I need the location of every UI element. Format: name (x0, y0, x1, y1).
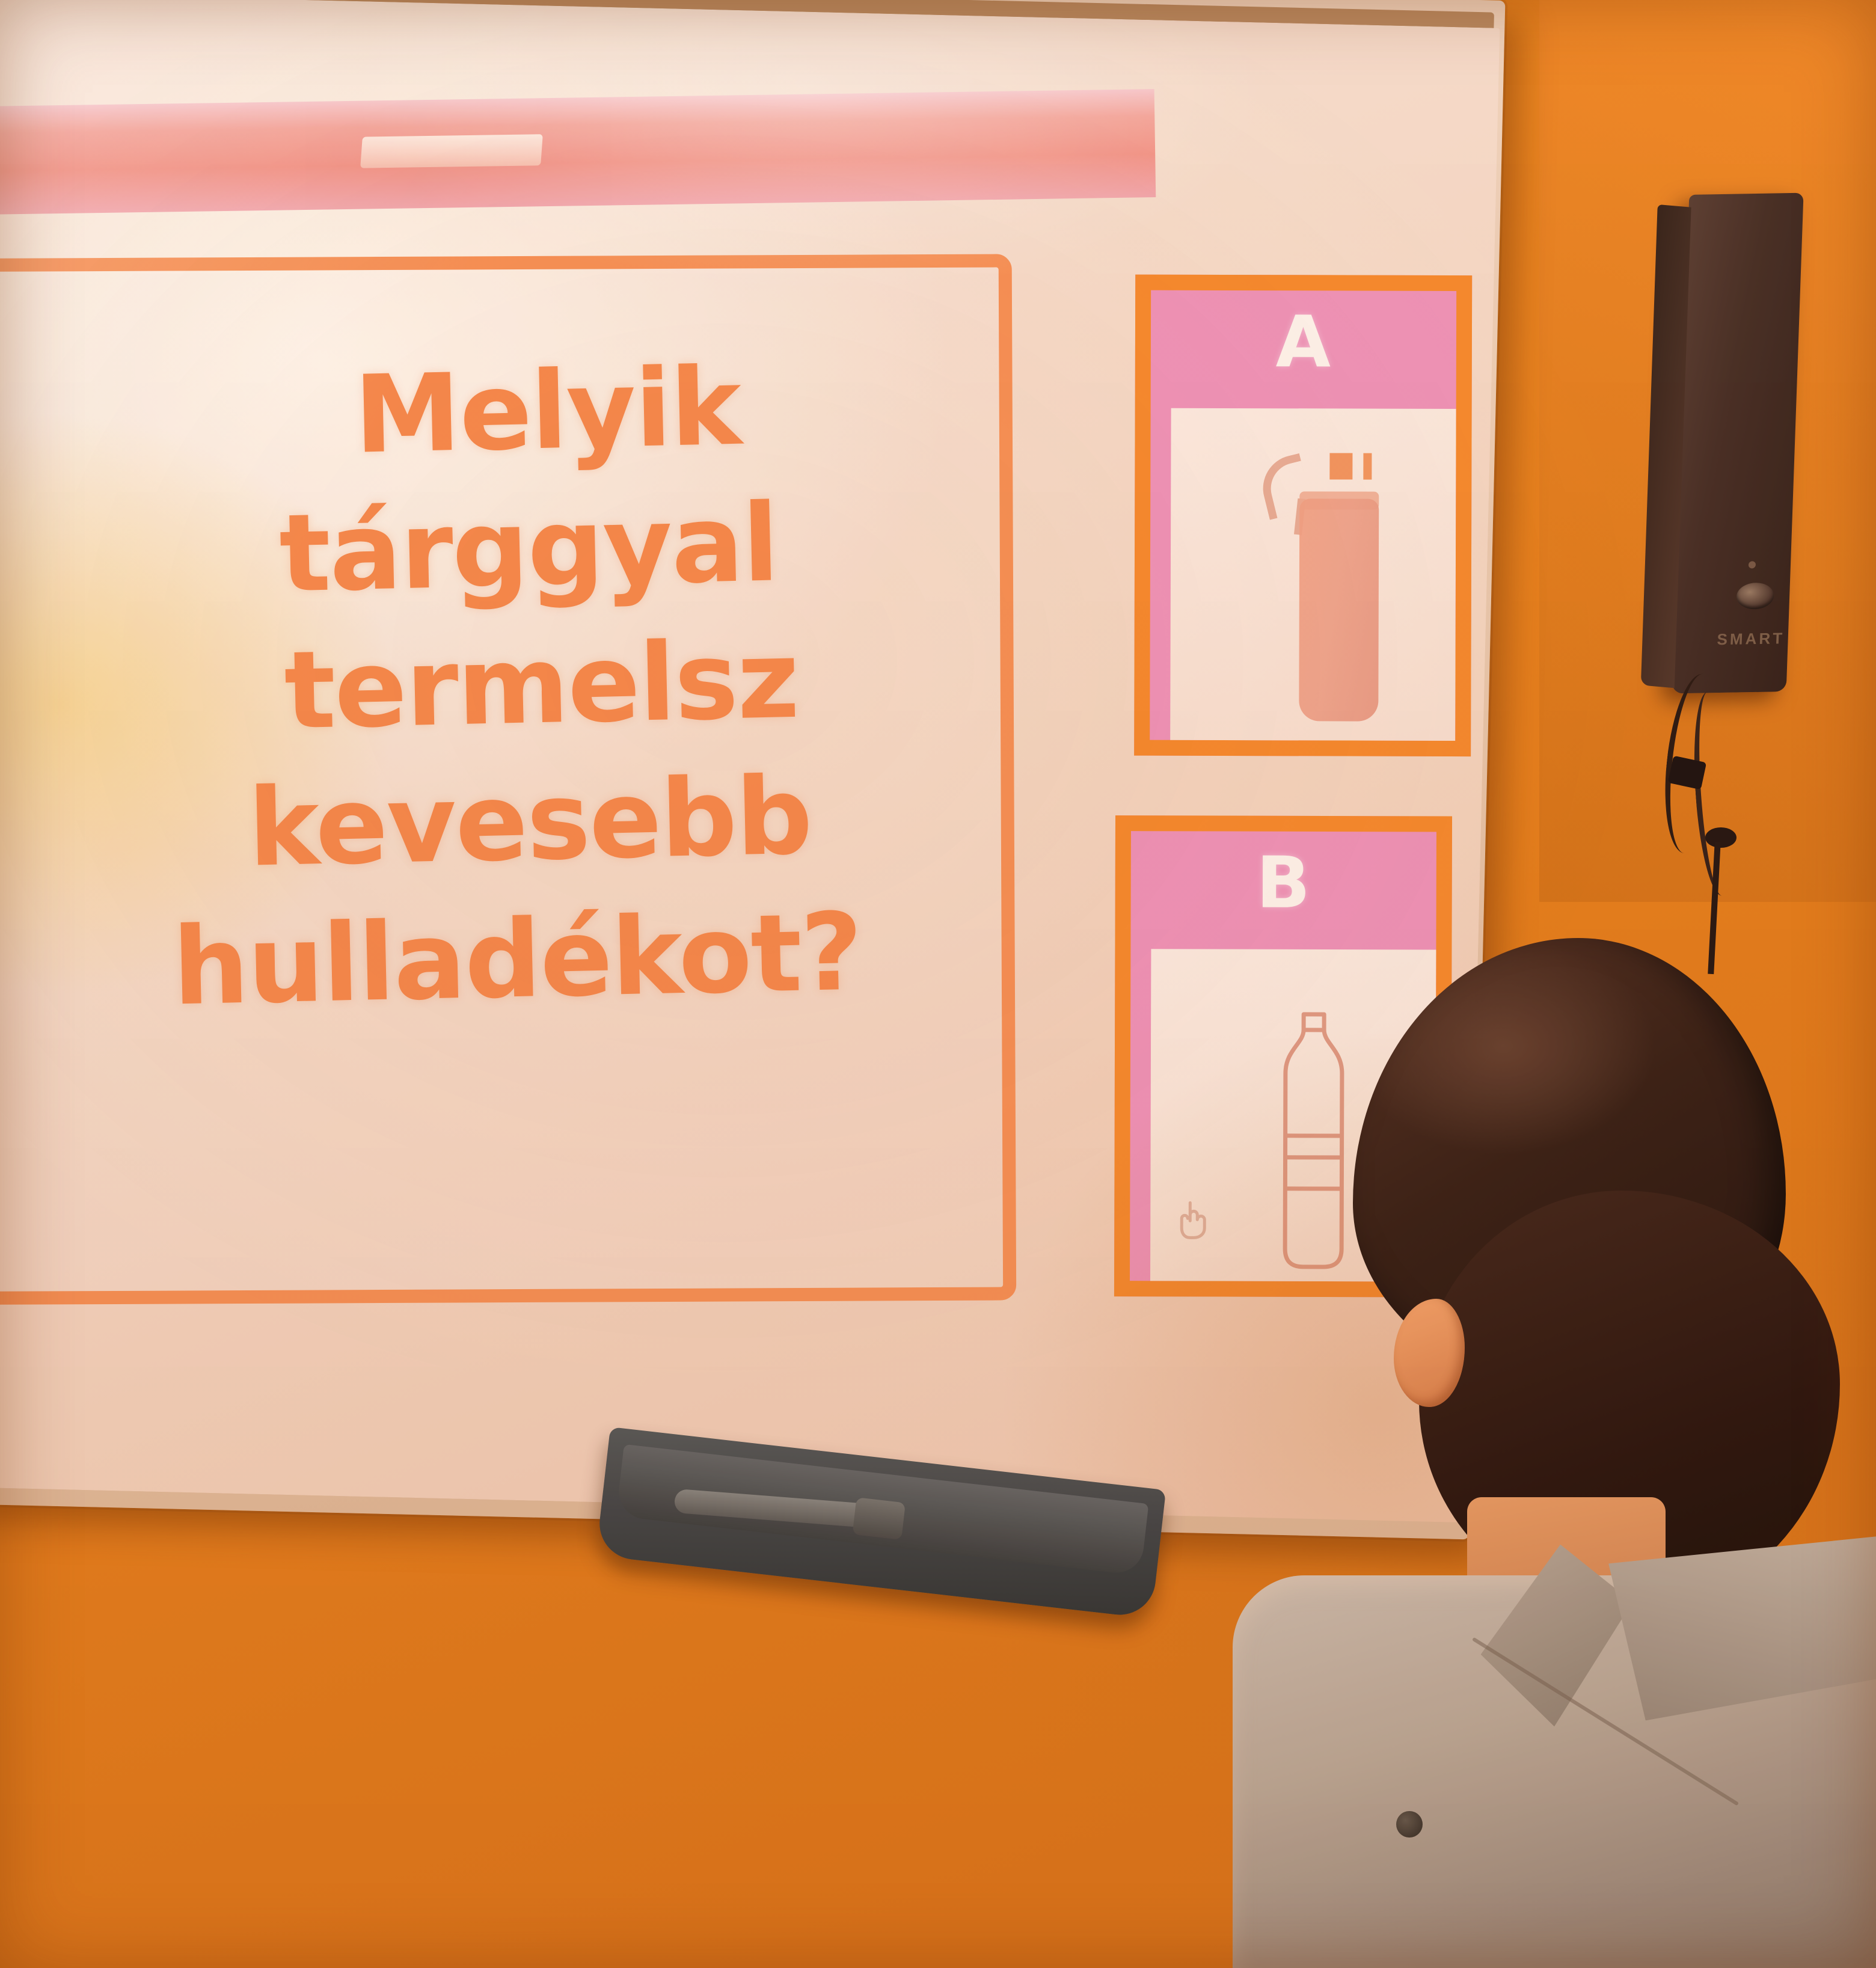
cable-bead (1705, 827, 1737, 848)
answer-letter-a: A (1151, 306, 1456, 378)
stylus-pen-holder (853, 1497, 906, 1540)
label-mark-icon (1363, 453, 1372, 480)
label-mark-icon (1329, 453, 1352, 479)
slide-header-notch (360, 134, 543, 168)
child-viewing-board (1269, 938, 1876, 1968)
volume-knob[interactable] (1736, 583, 1774, 610)
question-line-3: termelsz (143, 608, 940, 762)
question-line-4: kevesebb (132, 746, 928, 900)
answer-letter-b: B (1131, 847, 1436, 918)
speaker-brand-label: SMART (1717, 629, 1785, 649)
answer-image-a (1170, 408, 1456, 746)
power-led-icon (1749, 561, 1756, 568)
reusable-bottle-icon (1299, 498, 1379, 721)
question-text: Melyik tárggyal termelsz kevesebb hullad… (143, 334, 952, 1037)
slide-header-band (0, 89, 1156, 216)
wall-speaker[interactable]: SMART (1672, 193, 1803, 694)
jacket-button (1396, 1811, 1423, 1838)
question-line-2: tárggyal (130, 471, 927, 626)
question-line-1: Melyik (149, 334, 946, 488)
answer-card-a[interactable]: A (1134, 275, 1472, 756)
pointing-hand-cursor[interactable] (1178, 1198, 1213, 1241)
question-line-5: hulladékot? (119, 883, 916, 1037)
